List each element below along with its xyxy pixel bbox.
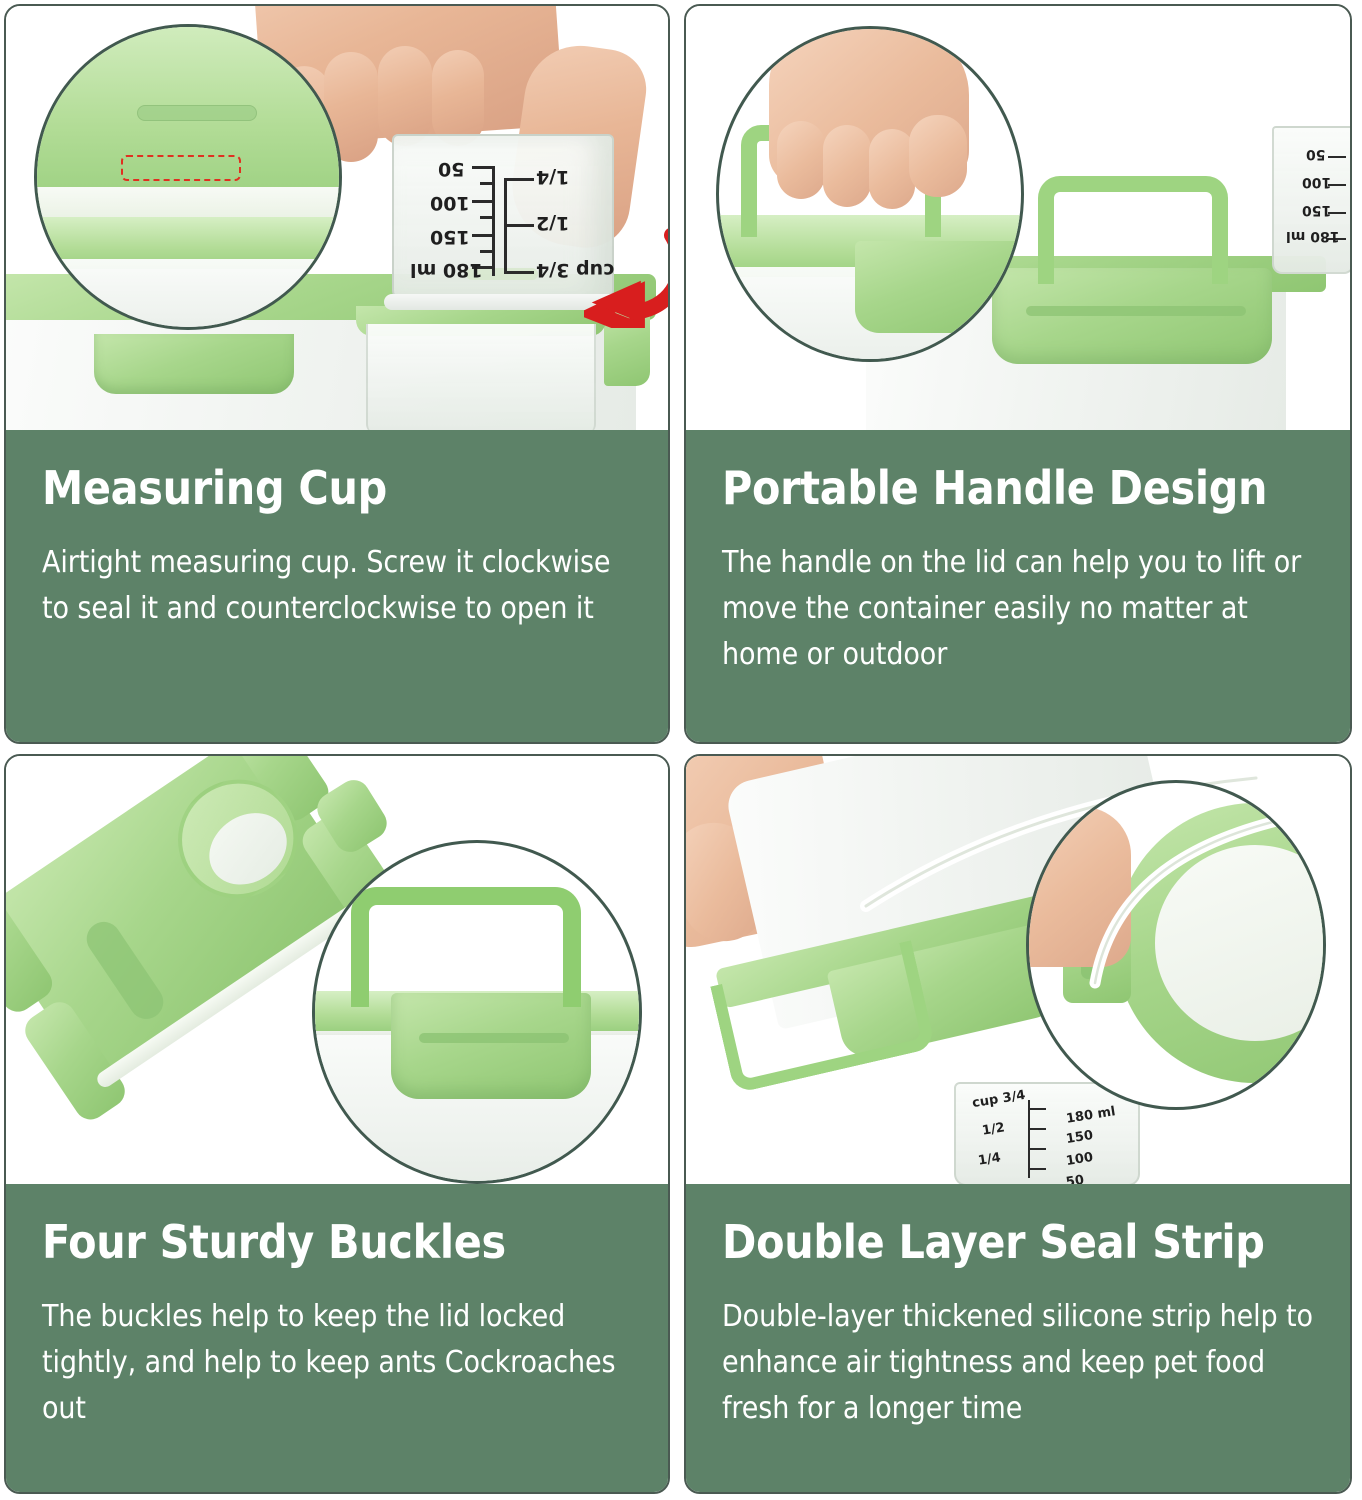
inset-lid-groove [137,105,257,121]
cup-label-ml-180: 180 ml [410,259,483,281]
cup-label-ml-100: 100 [1302,174,1331,190]
magnifier-inset [716,26,1024,362]
caption-four-buckles: Four Sturdy Buckles The buckles help to … [6,1184,668,1492]
cup-label-ml-50: 50 [438,158,464,180]
inset-thumb [909,115,967,197]
cup-tick-1 [1030,1108,1046,1110]
panel-body: The buckles help to keep the lid locked … [42,1294,632,1432]
panel-body: The handle on the lid can help you to li… [722,540,1314,678]
magnifier-inset [34,24,342,330]
rotation-arrow-icon [584,228,668,328]
finger-3 [378,46,432,146]
photo-portable-handle: 50 100 150 180 ml [686,6,1350,430]
inset-seal-strip [1049,793,1326,1013]
panel-body: Double-layer thickened silicone strip he… [722,1294,1314,1432]
cup-label-ml-150: 150 [1302,202,1331,218]
cup-tick-3 [1030,1148,1046,1150]
cup-label-ml-50: 50 [1065,1173,1085,1184]
cup-axis [1028,1100,1030,1178]
cup-tick-2 [1030,1128,1046,1130]
caption-portable-handle: Portable Handle Design The handle on the… [686,430,1350,742]
inset-buckle [391,993,591,1099]
inset-seal-band [34,187,342,221]
inset-container-wall [34,259,342,330]
panel-title: Portable Handle Design [722,464,1314,512]
inset-finger-2 [823,125,871,207]
feature-panel-four-buckles: Four Sturdy Buckles The buckles help to … [0,750,680,1500]
buckle-front-ridge [1026,306,1246,316]
photo-double-seal-strip: cup 3/4 1/2 1/4 180 ml 150 100 50 [686,756,1350,1184]
feature-panel-portable-handle: 50 100 150 180 ml [680,0,1362,750]
caption-double-seal-strip: Double Layer Seal Strip Double-layer thi… [686,1184,1350,1492]
cup-label-ml-180: 180 ml [1286,228,1339,244]
inset-carry-handle [351,887,581,1007]
scale-tick-major-3 [472,234,494,237]
scale-tick-minor-2 [480,216,494,219]
panel-body: Airtight measuring cup. Screw it clockwi… [42,540,632,632]
inset-buckle [855,241,1024,333]
magnifier-inset [1026,780,1326,1110]
cup-tick-1 [504,178,534,181]
photo-four-buckles [6,756,668,1184]
finger-4 [432,50,484,146]
cup-label-frac-quarter: 1/4 [536,166,569,188]
cup-tick-3 [504,271,534,274]
screw-thread-highlight [121,155,241,181]
scale-tick-major-2 [472,200,494,203]
panel-title: Four Sturdy Buckles [42,1218,632,1266]
container-mouth [366,324,596,430]
cup-tick-4 [1030,1168,1046,1170]
caption-measuring-cup: Measuring Cup Airtight measuring cup. Sc… [6,430,668,742]
cup-tick-2 [504,224,534,227]
feature-panel-double-seal-strip: cup 3/4 1/2 1/4 180 ml 150 100 50 [680,750,1362,1500]
carry-handle [1038,176,1228,284]
cup-label-ml-100: 100 [430,192,470,214]
cup-label-frac-half: 1/2 [536,212,569,234]
scale-tick-minor-1 [480,182,494,185]
feature-grid: 50 100 150 180 ml 1/4 1/2 cup 3/4 [0,0,1362,1500]
panel-title: Double Layer Seal Strip [722,1218,1314,1266]
photo-measuring-cup: 50 100 150 180 ml 1/4 1/2 cup 3/4 [6,6,668,430]
cup-label-ml-150: 150 [430,226,470,248]
inset-finger-1 [777,121,825,199]
panel-title: Measuring Cup [42,464,632,512]
buckle-left [94,334,294,394]
scale-tick-major-1 [472,166,494,169]
cup-tick-1 [1328,156,1346,158]
magnifier-inset [312,840,642,1184]
cup-label-ml-50: 50 [1306,146,1325,162]
scale-tick-minor-3 [480,250,494,253]
inset-buckle-ridge [419,1033,569,1043]
feature-panel-measuring-cup: 50 100 150 180 ml 1/4 1/2 cup 3/4 [0,0,680,750]
